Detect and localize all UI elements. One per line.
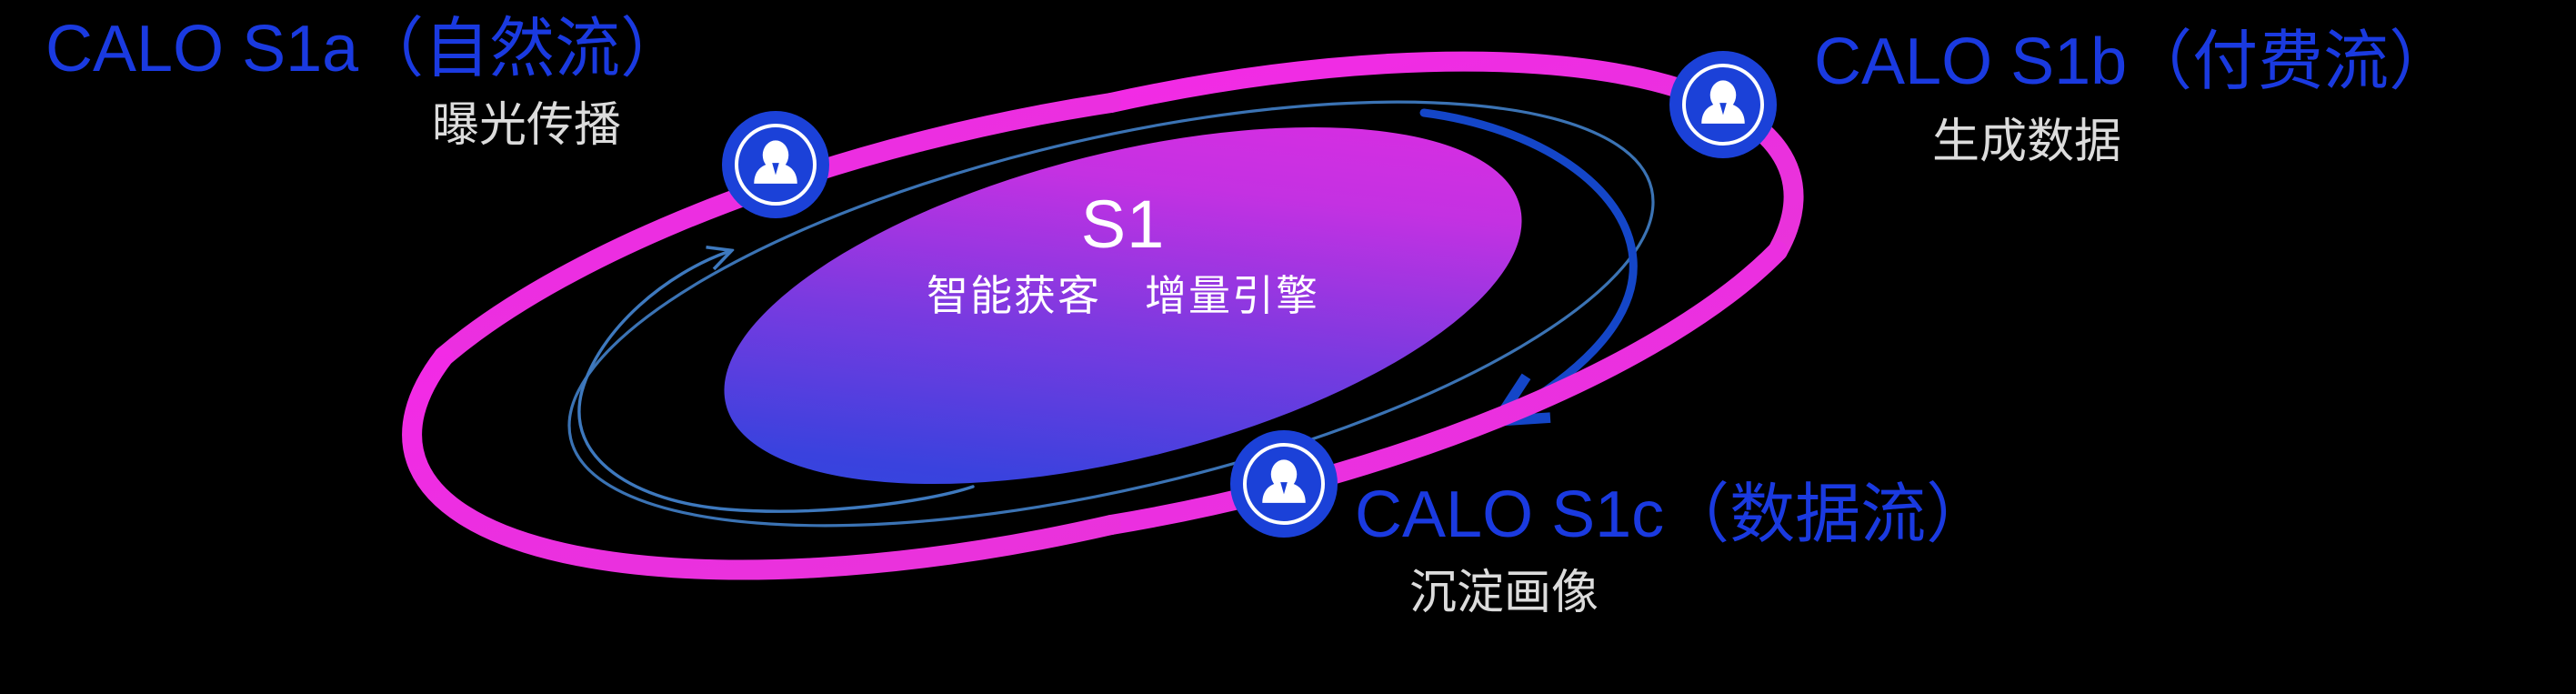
diagram-canvas: S1 智能获客 增量引擎 CALO S1a（自然流） 曝光传播 CALO S1b… [0, 0, 2576, 694]
node-badge-s1c[interactable] [1230, 430, 1338, 538]
node-badge-s1b[interactable] [1669, 51, 1777, 158]
orbit-diagram [0, 0, 2576, 694]
node-badge-s1a[interactable] [722, 111, 829, 218]
